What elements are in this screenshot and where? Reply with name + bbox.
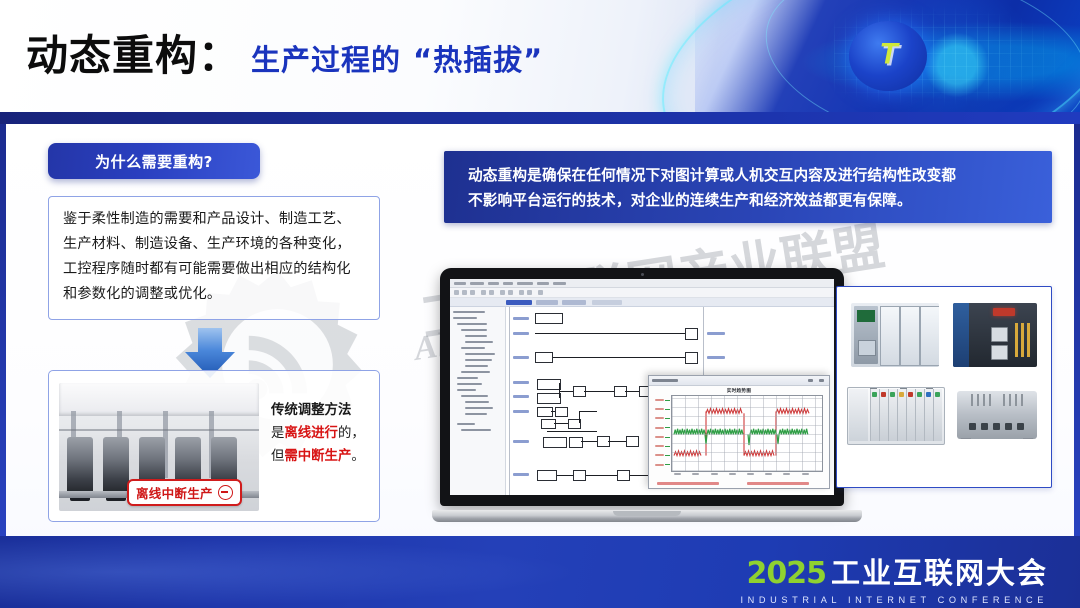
minus-circle-icon [218, 485, 233, 500]
chart-window-titlebar[interactable] [649, 376, 829, 386]
header-orb [849, 21, 927, 91]
project-tree-panel[interactable] [450, 307, 506, 495]
app-toolbar[interactable] [450, 288, 834, 298]
laptop-screen: 实时趋势图 [450, 279, 834, 495]
plc-rack-module [851, 303, 939, 367]
status-badge-label: 离线中断生产 [136, 483, 213, 502]
dark-controller-unit [953, 303, 1037, 367]
chart-plot-area [671, 395, 823, 472]
photo-note-line-3-suffix: 。 [351, 449, 364, 464]
wide-io-rack [847, 387, 945, 445]
page-title-quoted: “热插拔” [413, 43, 543, 77]
left-panel-text-line-1: 鉴于柔性制造的需要和产品设计、制造工艺、 [63, 207, 367, 232]
left-panel-text-line-3: 工控程序随时都有可能需要做出相应的结构化 [63, 257, 367, 282]
photo-note-line-1: 传统调整方法 [271, 399, 375, 422]
app-menu-bar[interactable] [450, 279, 834, 288]
definition-banner: 动态重构是确保在任何情况下对图计算或人机交互内容及进行结构性改变都 不影响平台运… [444, 151, 1052, 223]
slide-root: T 动态重构：生产过程的“热插拔” 工业互联网产业联盟 Alliance of … [0, 0, 1080, 608]
industrial-pc-box [957, 391, 1037, 439]
photo-note-line-2: 是离线进行的， [271, 422, 375, 445]
header-tech-graphic: T [695, 0, 1080, 112]
left-panel-photo-card: 离线中断生产 传统调整方法 是离线进行的， 但需中断生产。 [48, 370, 380, 522]
laptop-mockup: 实时趋势图 [432, 268, 862, 530]
conference-name-en: INDUSTRIAL INTERNET CONFERENCE [741, 595, 1048, 605]
page-title-sub: 生产过程的 [251, 43, 401, 77]
brand-letter-logo: T [879, 38, 895, 72]
photo-note-line-2-highlight: 离线进行 [284, 426, 338, 441]
left-panel-tab[interactable]: 为什么需要重构? [48, 143, 260, 179]
photo-note-line-3: 但需中断生产。 [271, 445, 375, 468]
app-tab-strip[interactable] [450, 298, 834, 307]
slide-header: T 动态重构：生产过程的“热插拔” [0, 0, 1080, 112]
conference-logo: 2025 工业互联网大会 INDUSTRIAL INTERNET CONFERE… [741, 550, 1048, 605]
header-circuit-grid [834, 6, 1074, 106]
conference-year: 2025 [746, 556, 826, 591]
conference-name-cn: 工业互联网大会 [831, 550, 1048, 592]
left-panel-tab-label: 为什么需要重构? [95, 151, 213, 172]
footer-glow [0, 536, 594, 608]
status-badge: 离线中断生产 [127, 479, 242, 506]
page-title: 动态重构：生产过程的“热插拔” [26, 22, 543, 83]
photo-note-line-3-highlight: 需中断生产 [284, 449, 351, 464]
chart-y-axis [653, 395, 670, 472]
photo-note-line-2-suffix: 的， [338, 426, 365, 441]
ladder-logic-canvas[interactable]: 实时趋势图 [507, 307, 834, 495]
photo-note-line-3-prefix: 但 [271, 449, 284, 464]
chart-title: 实时趋势图 [649, 386, 829, 394]
left-panel-photo-note: 传统调整方法 是离线进行的， 但需中断生产。 [271, 399, 375, 468]
chart-legend [655, 480, 825, 487]
slide-footer: 2025 工业互联网大会 INDUSTRIAL INTERNET CONFERE… [0, 536, 1080, 608]
webcam-icon [641, 273, 644, 276]
page-title-main: 动态重构： [26, 31, 241, 80]
left-panel-text-line-2: 生产材料、制造设备、生产环境的各种变化， [63, 232, 367, 257]
chart-x-axis [671, 473, 823, 479]
industrial-hardware-panel [836, 286, 1052, 488]
definition-banner-line-2: 不影响平台运行的技术，对企业的连续生产和经济效益都更有保障。 [468, 188, 1032, 213]
left-panel-text-line-4: 和参数化的调整或优化。 [63, 282, 367, 307]
left-panel-text-card: 鉴于柔性制造的需要和产品设计、制造工艺、 生产材料、制造设备、生产环境的各种变化… [48, 196, 380, 320]
definition-banner-line-1: 动态重构是确保在任何情况下对图计算或人机交互内容及进行结构性改变都 [468, 163, 1032, 188]
laptop-lid: 实时趋势图 [440, 268, 844, 506]
chart-gridlines [672, 396, 822, 471]
laptop-notch [613, 511, 681, 516]
header-divider-band [0, 112, 1080, 124]
trend-chart-window[interactable]: 实时趋势图 [648, 375, 830, 489]
photo-note-line-2-prefix: 是 [271, 426, 284, 441]
